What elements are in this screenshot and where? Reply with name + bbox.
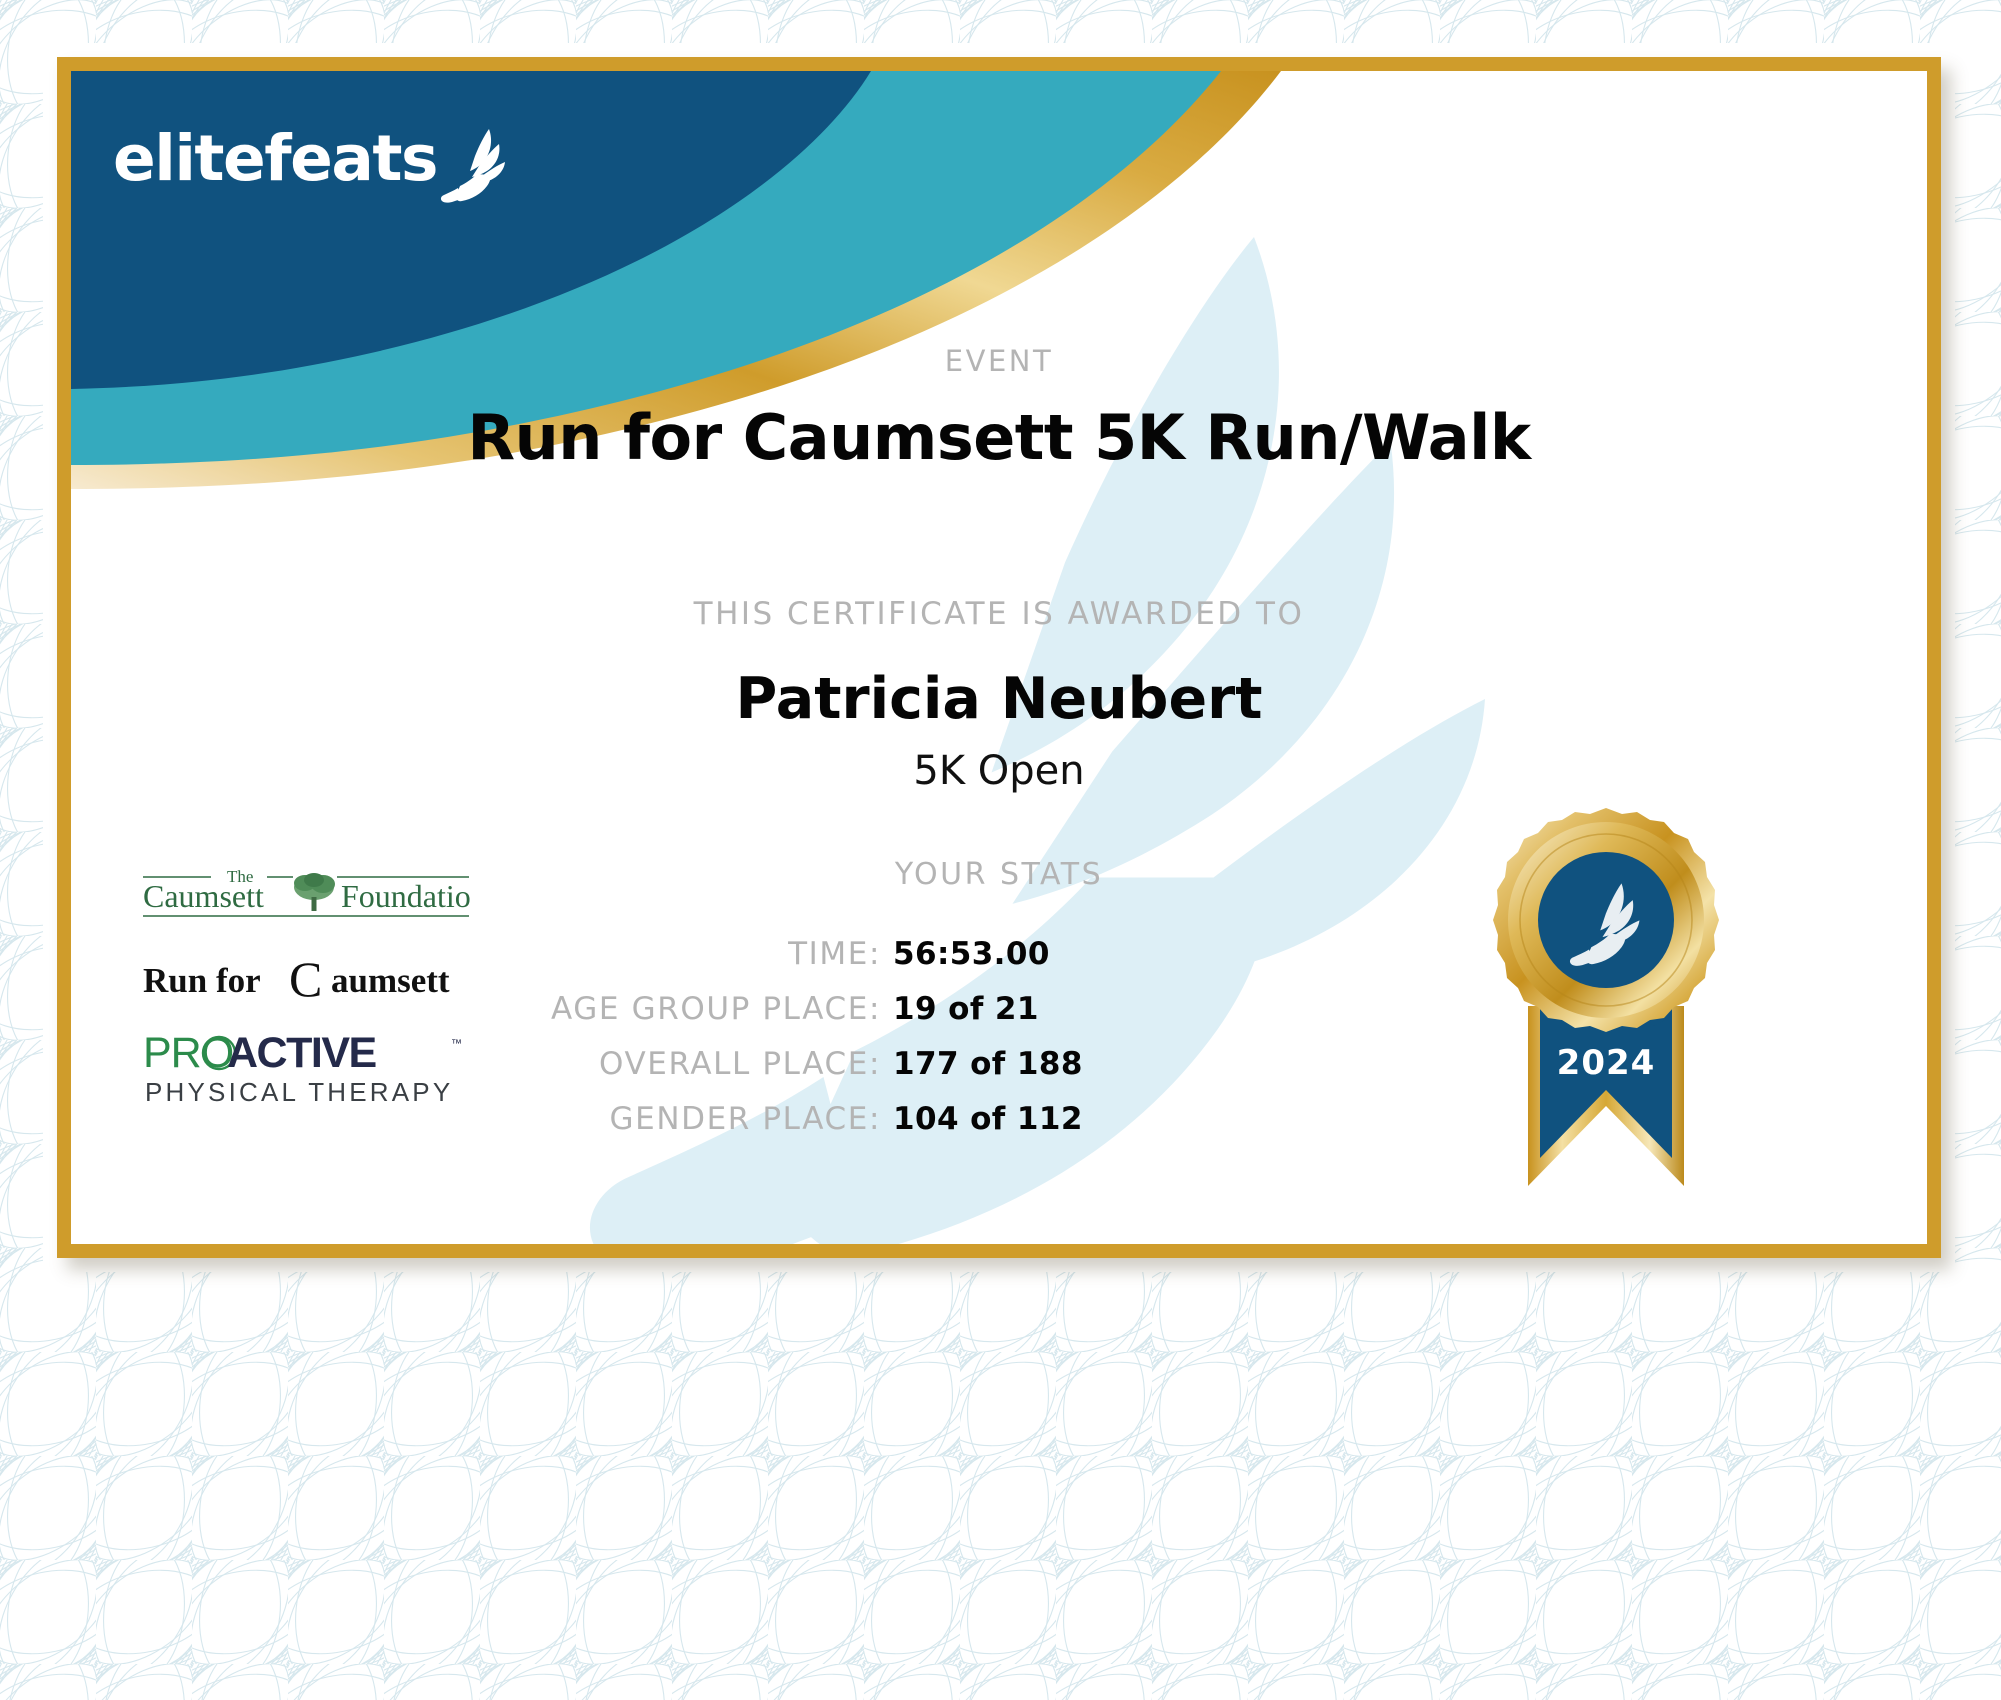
- tree-icon: [294, 873, 335, 911]
- stat-row-age-group-place: AGE GROUP PLACE: 19 of 21: [401, 991, 1301, 1027]
- brand-logo: elitefeats: [113, 126, 513, 190]
- stat-key: TIME:: [401, 936, 881, 972]
- svg-text:™: ™: [451, 1038, 462, 1050]
- awarded-to-label: THIS CERTIFICATE IS AWARDED TO: [71, 596, 1927, 632]
- certificate-content: EVENT Run for Caumsett 5K Run/Walk THIS …: [71, 71, 1927, 1244]
- recipient-division: 5K Open: [71, 748, 1927, 794]
- medal-graphic: 2024: [1456, 806, 1756, 1256]
- event-label: EVENT: [71, 344, 1927, 378]
- stat-row-time: TIME: 56:53.00: [401, 936, 1301, 972]
- stat-value: 19 of 21: [893, 991, 1039, 1027]
- stat-value: 177 of 188: [893, 1046, 1083, 1082]
- medal-year-text: 2024: [1557, 1043, 1656, 1083]
- stat-key: GENDER PLACE:: [401, 1101, 881, 1137]
- sponsor-logo-run-for-caumsett: Run for C aumsett: [141, 952, 471, 1004]
- sponsor-logos: The Caumsett Foundation: [141, 861, 471, 1114]
- sponsor-logo-caumsett-foundation: The Caumsett Foundation: [141, 861, 471, 923]
- event-title: Run for Caumsett 5K Run/Walk: [71, 401, 1927, 474]
- svg-text:Run for: Run for: [143, 961, 261, 1000]
- stats-table: TIME: 56:53.00 AGE GROUP PLACE: 19 of 21…: [401, 936, 1301, 1137]
- svg-text:aumsett: aumsett: [331, 961, 450, 1000]
- recipient-name: Patricia Neubert: [71, 666, 1927, 732]
- stat-key: AGE GROUP PLACE:: [401, 991, 881, 1027]
- medal-seal: [1493, 808, 1719, 1032]
- sponsor-logo-proactive-physical-therapy: PRO ACTIVE ™ PHYSICAL THERAPY: [141, 1031, 471, 1109]
- svg-text:Caumsett: Caumsett: [143, 878, 264, 914]
- svg-text:ACTIVE: ACTIVE: [227, 1031, 376, 1077]
- svg-text:Foundation: Foundation: [341, 878, 471, 914]
- stat-value: 56:53.00: [893, 936, 1050, 972]
- certificate-paper: elitefeats EVEN: [57, 57, 1941, 1258]
- brand-name: elitefeats: [113, 127, 437, 190]
- stat-value: 104 of 112: [893, 1101, 1083, 1137]
- certificate-root: elitefeats EVEN: [0, 0, 2001, 1700]
- medal-ribbon: 2024: [1528, 1006, 1684, 1186]
- winged-foot-icon: [439, 126, 513, 204]
- svg-text:C: C: [289, 952, 322, 1004]
- stat-row-overall-place: OVERALL PLACE: 177 of 188: [401, 1046, 1301, 1082]
- stat-key: OVERALL PLACE:: [401, 1046, 881, 1082]
- svg-text:PHYSICAL THERAPY: PHYSICAL THERAPY: [145, 1077, 453, 1107]
- stat-row-gender-place: GENDER PLACE: 104 of 112: [401, 1101, 1301, 1137]
- finisher-medal: 2024: [1451, 806, 1761, 1258]
